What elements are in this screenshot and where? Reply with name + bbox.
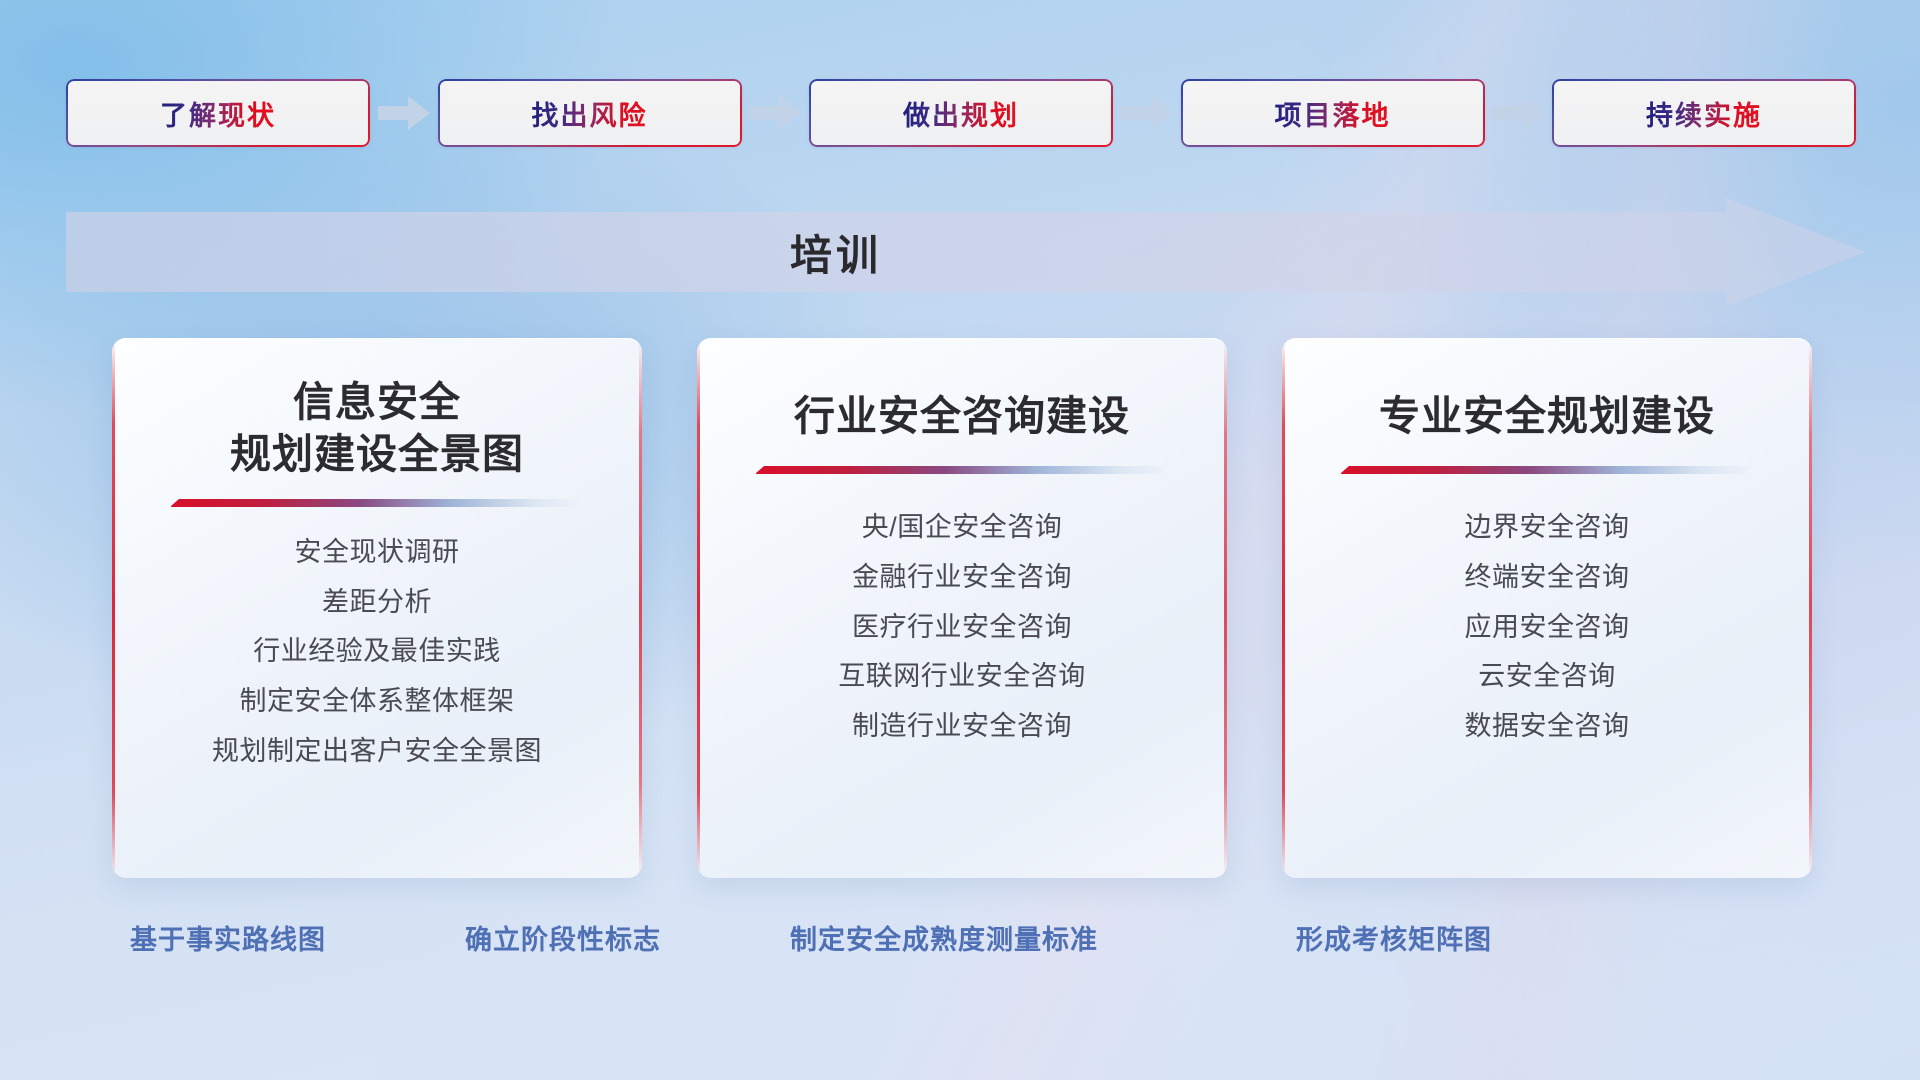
list-item: 规划制定出客户安全全景图 bbox=[212, 730, 542, 773]
card-title: 专业安全规划建设 bbox=[1379, 390, 1715, 442]
card-item-list: 央/国企安全咨询 金融行业安全咨询 医疗行业安全咨询 互联网行业安全咨询 制造行… bbox=[697, 506, 1227, 747]
list-item: 数据安全咨询 bbox=[1465, 705, 1630, 748]
card-information-security-blueprint[interactable]: 信息安全 规划建设全景图 安全现状调研 差距分析 行 bbox=[112, 338, 642, 878]
step-arrow-icon-2 bbox=[742, 96, 810, 130]
card-divider-rule bbox=[1341, 464, 1753, 476]
step-box-4[interactable]: 项目落地 bbox=[1181, 79, 1485, 147]
step-label: 做出规划 bbox=[903, 94, 1019, 133]
step-box-5[interactable]: 持续实施 bbox=[1552, 79, 1856, 147]
step-label: 项目落地 bbox=[1275, 94, 1391, 133]
step-arrow-icon-3 bbox=[1113, 96, 1181, 130]
list-item: 金融行业安全咨询 bbox=[852, 556, 1072, 599]
step-label: 了解现状 bbox=[160, 94, 276, 133]
caption-roadmap: 基于事实路线图 bbox=[130, 918, 326, 957]
card-divider-rule bbox=[756, 464, 1168, 476]
card-industry-security-consulting[interactable]: 行业安全咨询建设 央/国企安全咨询 金融行业安全咨询 bbox=[697, 338, 1227, 878]
step-box-2[interactable]: 找出风险 bbox=[438, 79, 742, 147]
step-arrow-icon-4 bbox=[1485, 96, 1553, 130]
list-item: 行业经验及最佳实践 bbox=[253, 630, 501, 673]
caption-matrix: 形成考核矩阵图 bbox=[1296, 918, 1492, 957]
list-item: 互联网行业安全咨询 bbox=[838, 655, 1086, 698]
caption-row: 基于事实路线图 确立阶段性标志 制定安全成熟度测量标准 形成考核矩阵图 bbox=[0, 918, 1920, 968]
step-box-3[interactable]: 做出规划 bbox=[809, 79, 1113, 147]
step-arrow-icon-1 bbox=[370, 96, 438, 130]
list-item: 应用安全咨询 bbox=[1465, 606, 1630, 649]
step-label: 找出风险 bbox=[532, 94, 648, 133]
caption-maturity: 制定安全成熟度测量标准 bbox=[790, 918, 1098, 957]
list-item: 边界安全咨询 bbox=[1465, 506, 1630, 549]
process-step-row: 了解现状 找出风险 做出规划 项目落地 持续实施 bbox=[66, 78, 1856, 148]
card-title: 信息安全 规划建设全景图 bbox=[230, 376, 524, 481]
list-item: 云安全咨询 bbox=[1478, 655, 1616, 698]
card-divider-rule bbox=[171, 497, 583, 509]
card-row: 信息安全 规划建设全景图 安全现状调研 差距分析 行 bbox=[112, 338, 1812, 878]
list-item: 终端安全咨询 bbox=[1465, 556, 1630, 599]
list-item: 制定安全体系整体框架 bbox=[240, 680, 515, 723]
list-item: 安全现状调研 bbox=[295, 531, 460, 574]
card-professional-security-planning[interactable]: 专业安全规划建设 边界安全咨询 终端安全咨询 应用安 bbox=[1282, 338, 1812, 878]
step-box-1[interactable]: 了解现状 bbox=[66, 79, 370, 147]
card-title: 行业安全咨询建设 bbox=[794, 390, 1130, 442]
list-item: 制造行业安全咨询 bbox=[852, 705, 1072, 748]
caption-milestone: 确立阶段性标志 bbox=[465, 918, 661, 957]
list-item: 医疗行业安全咨询 bbox=[852, 606, 1072, 649]
training-banner: 培训 bbox=[66, 198, 1866, 306]
step-label: 持续实施 bbox=[1646, 94, 1762, 133]
list-item: 央/国企安全咨询 bbox=[862, 506, 1063, 549]
card-item-list: 安全现状调研 差距分析 行业经验及最佳实践 制定安全体系整体框架 规划制定出客户… bbox=[112, 531, 642, 772]
banner-title: 培训 bbox=[66, 198, 1606, 306]
list-item: 差距分析 bbox=[322, 581, 432, 624]
card-item-list: 边界安全咨询 终端安全咨询 应用安全咨询 云安全咨询 数据安全咨询 bbox=[1282, 506, 1812, 747]
